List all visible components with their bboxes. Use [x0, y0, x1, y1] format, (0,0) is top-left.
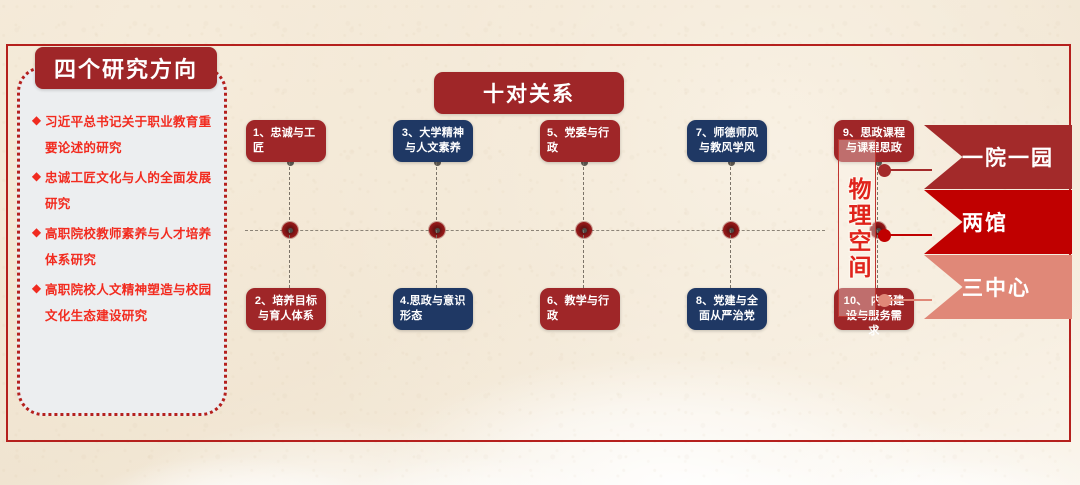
- timeline-hub-marker[interactable]: [429, 222, 445, 238]
- research-directions-panel: 四个研究方向 ◆ 习近平总书记关于职业教育重要论述的研究 ◆ 忠诚工匠文化与人的…: [17, 66, 227, 416]
- bar-connector-line-1: [884, 169, 932, 171]
- list-item[interactable]: ◆ 高职院校教师素养与人才培养体系研究: [28, 221, 216, 273]
- ten-relations-timeline: 1、忠诚与工匠2、培养目标与育人体系3、大学精神与人文素养4.思政与意识形态5、…: [245, 120, 825, 335]
- connector-line-top: [877, 162, 878, 230]
- diamond-bullet-icon: ◆: [28, 277, 45, 299]
- timeline-hub-marker[interactable]: [723, 222, 739, 238]
- physical-space-box: 物理空间: [838, 139, 876, 317]
- list-item-label: 高职院校教师素养与人才培养体系研究: [45, 221, 216, 273]
- diamond-bullet-icon: ◆: [28, 109, 45, 131]
- list-item[interactable]: ◆ 高职院校人文精神塑造与校园文化生态建设研究: [28, 277, 216, 329]
- list-item-label: 忠诚工匠文化与人的全面发展研究: [45, 165, 216, 217]
- diamond-bullet-icon: ◆: [28, 221, 45, 243]
- connector-line-top: [436, 162, 437, 230]
- research-directions-list: ◆ 习近平总书记关于职业教育重要论述的研究 ◆ 忠诚工匠文化与人的全面发展研究 …: [28, 109, 216, 333]
- physical-space-label: 物理空间: [839, 140, 877, 318]
- list-item-label: 习近平总书记关于职业教育重要论述的研究: [45, 109, 216, 161]
- bar-connector-dot-1: [878, 164, 891, 177]
- connector-line-top: [730, 162, 731, 230]
- physical-space-bar-2[interactable]: 两馆: [924, 190, 1072, 254]
- relation-card-8[interactable]: 8、党建与全面从严治党: [687, 288, 767, 330]
- relation-card-1[interactable]: 1、忠诚与工匠: [246, 120, 326, 162]
- list-item[interactable]: ◆ 习近平总书记关于职业教育重要论述的研究: [28, 109, 216, 161]
- relation-card-6[interactable]: 6、教学与行政: [540, 288, 620, 330]
- connector-line-top: [583, 162, 584, 230]
- diamond-bullet-icon: ◆: [28, 165, 45, 187]
- physical-space-bar-3[interactable]: 三中心: [924, 255, 1072, 319]
- bar-connector-line-2: [884, 234, 932, 236]
- relation-card-7[interactable]: 7、师德师风与教风学风: [687, 120, 767, 162]
- timeline-hub-marker[interactable]: [576, 222, 592, 238]
- timeline-hub-marker[interactable]: [282, 222, 298, 238]
- relation-card-2[interactable]: 2、培养目标与育人体系: [246, 288, 326, 330]
- list-item[interactable]: ◆ 忠诚工匠文化与人的全面发展研究: [28, 165, 216, 217]
- connector-line-top: [289, 162, 290, 230]
- relation-card-4[interactable]: 4.思政与意识形态: [393, 288, 473, 330]
- slide-canvas: 四个研究方向 ◆ 习近平总书记关于职业教育重要论述的研究 ◆ 忠诚工匠文化与人的…: [0, 0, 1080, 485]
- physical-space-bar-1[interactable]: 一院一园: [924, 125, 1072, 189]
- relation-card-3[interactable]: 3、大学精神与人文素养: [393, 120, 473, 162]
- list-item-label: 高职院校人文精神塑造与校园文化生态建设研究: [45, 277, 216, 329]
- ten-relations-title: 十对关系: [434, 72, 624, 114]
- relation-card-5[interactable]: 5、党委与行政: [540, 120, 620, 162]
- research-directions-title: 四个研究方向: [35, 47, 217, 89]
